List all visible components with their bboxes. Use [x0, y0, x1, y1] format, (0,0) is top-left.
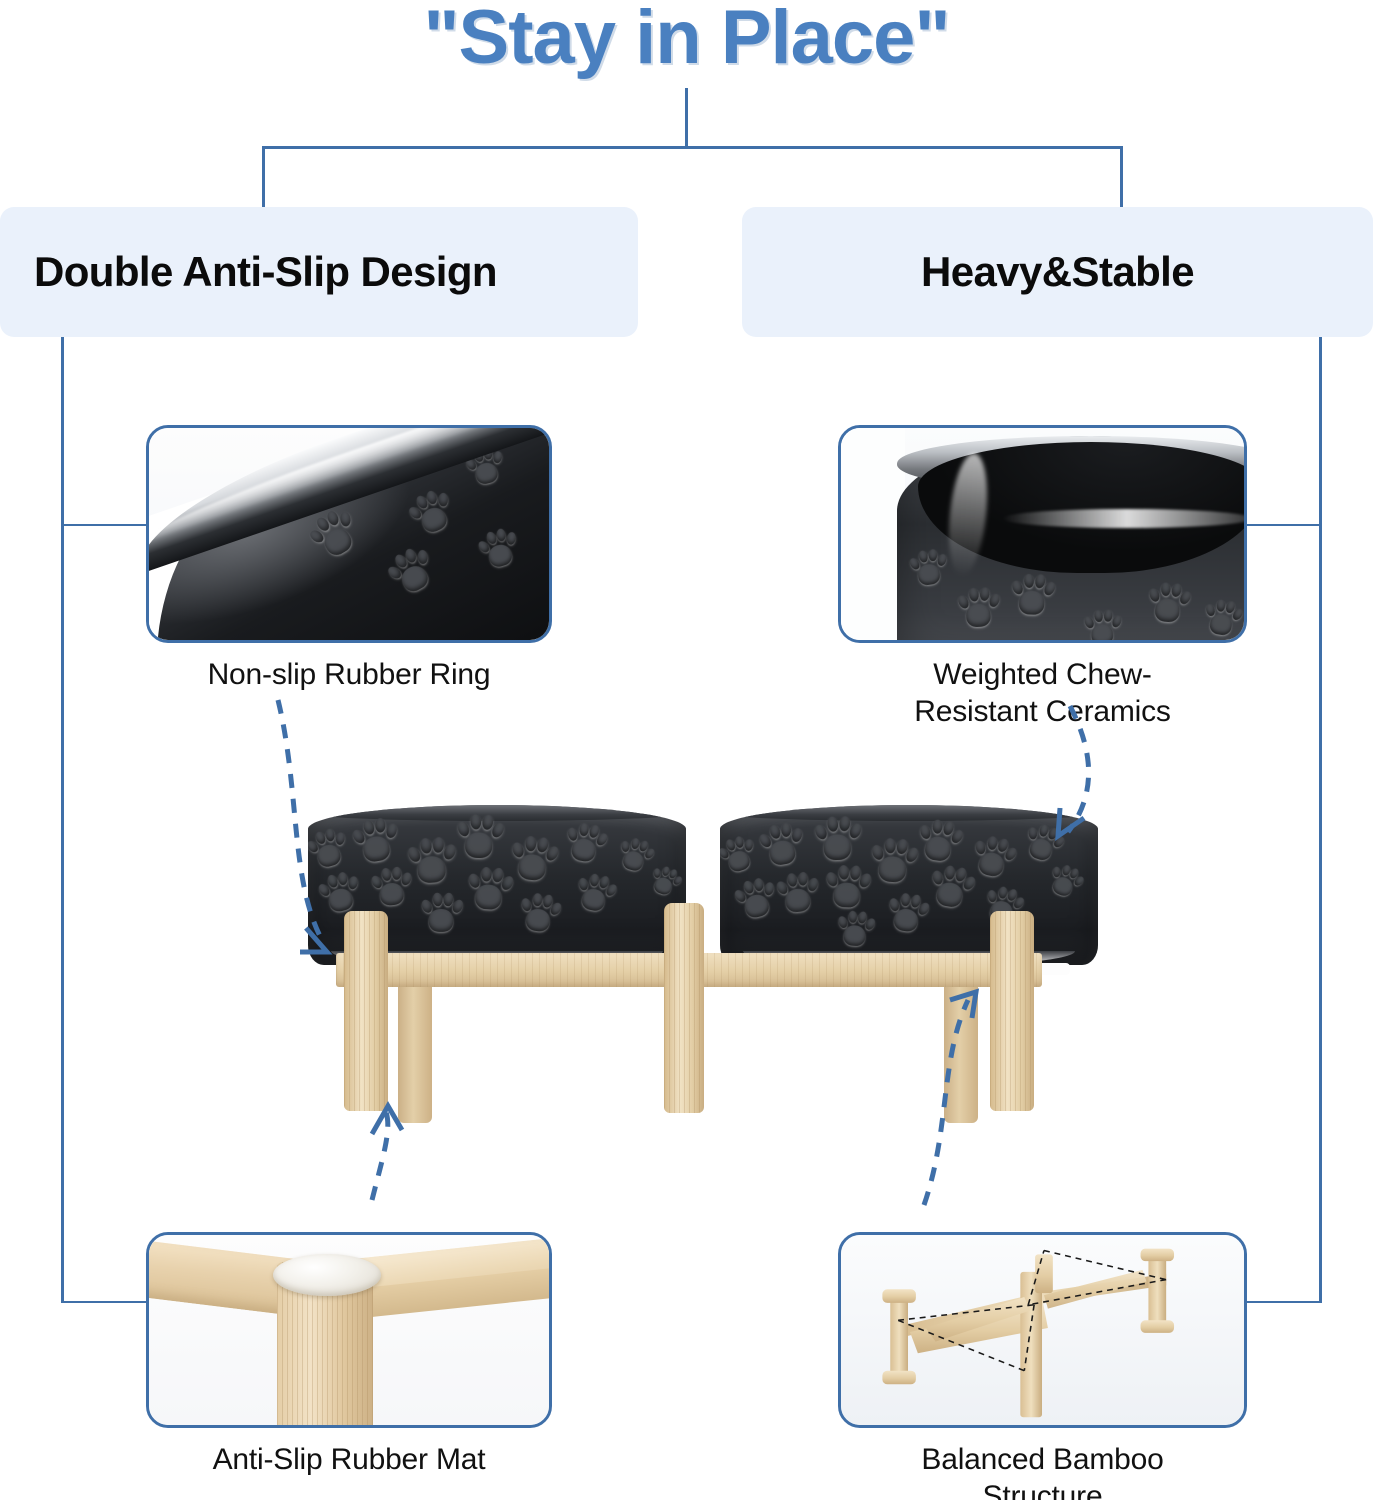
- paw-print-icon: [614, 834, 655, 877]
- infographic-canvas: "Stay in Place" Double Anti-Slip Design …: [0, 0, 1373, 1500]
- paw-pattern-group: [720, 805, 1098, 965]
- bamboo-leg-center: [664, 903, 704, 1113]
- paw-print-icon: [775, 869, 820, 916]
- bamboo-leg-back-left: [398, 971, 432, 1123]
- bamboo-frame-diagram: [841, 1235, 1244, 1425]
- bracket-drop-right: [1120, 146, 1123, 208]
- paw-print-icon: [474, 525, 522, 574]
- feature-caption-balanced-bamboo-structure: Balanced Bamboo Structure: [838, 1442, 1247, 1500]
- paw-print-icon: [731, 874, 779, 924]
- paw-print-icon: [720, 832, 759, 878]
- paw-print-icon: [1146, 579, 1190, 626]
- bracket-crossbar: [262, 146, 1123, 149]
- bracket-stem: [685, 88, 688, 148]
- paw-print-icon: [1044, 860, 1086, 903]
- photo-backdrop: [841, 428, 905, 640]
- paw-print-icon: [907, 546, 948, 589]
- bamboo-structure-photo: [841, 1235, 1244, 1425]
- paw-print-icon: [836, 909, 875, 950]
- left-branch-spine: [61, 337, 64, 1303]
- bowl-interior-photo: [841, 428, 1244, 640]
- paw-print-icon: [350, 814, 401, 867]
- product-photo-elevated-dog-bowls: [268, 795, 1108, 1125]
- paw-print-icon: [957, 585, 1000, 630]
- feature-image-non-slip-rubber-ring: [146, 425, 552, 643]
- right-branch-to-bottom-card: [1240, 1301, 1322, 1303]
- callout-arrow-anti-slip-rubber-mat: [372, 1112, 388, 1200]
- paw-print-icon: [562, 819, 608, 867]
- paw-print-icon: [969, 832, 1018, 883]
- right-branch-to-top-card: [1240, 524, 1322, 526]
- paw-print-icon: [403, 484, 458, 540]
- caption-line-2: Structure: [838, 1479, 1247, 1500]
- stand-leg-photo: [149, 1235, 549, 1425]
- paw-print-icon: [573, 870, 618, 917]
- paw-print-icon: [814, 814, 861, 864]
- category-label-heavy-and-stable: Heavy&Stable: [742, 207, 1373, 337]
- paw-print-icon: [517, 890, 561, 937]
- left-branch-to-bottom-card: [61, 1301, 153, 1303]
- feature-image-anti-slip-rubber-mat: [146, 1232, 552, 1428]
- bamboo-leg-back-right: [944, 971, 978, 1123]
- paw-print-icon: [421, 891, 462, 934]
- inner-highlight: [1002, 509, 1247, 528]
- paw-print-icon: [1011, 572, 1055, 618]
- paw-print-icon: [646, 862, 683, 900]
- paw-print-icon: [869, 835, 917, 886]
- rubber-pad: [273, 1254, 381, 1296]
- paw-print-icon: [915, 816, 963, 866]
- paw-print-icon: [456, 812, 503, 862]
- paw-print-icon: [466, 864, 513, 913]
- feature-caption-anti-slip-rubber-mat: Anti-Slip Rubber Mat: [106, 1442, 592, 1479]
- feature-image-balanced-bamboo-structure: [838, 1232, 1247, 1428]
- bowl-underside-photo: [149, 428, 549, 640]
- feature-caption-non-slip-rubber-ring: Non-slip Rubber Ring: [106, 657, 592, 694]
- category-label-double-anti-slip-design: Double Anti-Slip Design: [0, 207, 638, 337]
- category-label-text: Heavy&Stable: [742, 248, 1373, 296]
- paw-print-icon: [1201, 596, 1243, 640]
- paw-print-icon: [382, 542, 440, 602]
- paw-print-icon: [508, 833, 558, 885]
- dog-bowl-right: [720, 805, 1098, 965]
- paw-print-icon: [308, 825, 351, 874]
- caption-line-1: Balanced Bamboo: [838, 1442, 1247, 1479]
- bamboo-leg-front-right: [990, 911, 1034, 1111]
- paw-print-icon: [885, 890, 929, 937]
- paw-print-icon: [369, 864, 412, 909]
- right-branch-spine: [1319, 337, 1322, 1303]
- feature-caption-weighted-chew-resistant-ceramics: Weighted Chew- Resistant Ceramics: [838, 657, 1247, 730]
- paw-print-icon: [824, 863, 869, 911]
- category-label-text: Double Anti-Slip Design: [0, 248, 638, 296]
- page-title: "Stay in Place": [0, 0, 1373, 81]
- paw-print-icon: [756, 819, 805, 870]
- bamboo-leg-front-left: [344, 911, 388, 1111]
- left-branch-to-top-card: [61, 524, 153, 526]
- feature-image-weighted-chew-resistant-ceramics: [838, 425, 1247, 643]
- caption-line-2: Resistant Ceramics: [838, 694, 1247, 731]
- caption-line-1: Weighted Chew-: [838, 657, 1247, 694]
- paw-print-icon: [406, 835, 456, 888]
- bracket-drop-left: [262, 146, 265, 208]
- paw-print-icon: [926, 861, 975, 912]
- paw-print-icon: [1083, 608, 1120, 643]
